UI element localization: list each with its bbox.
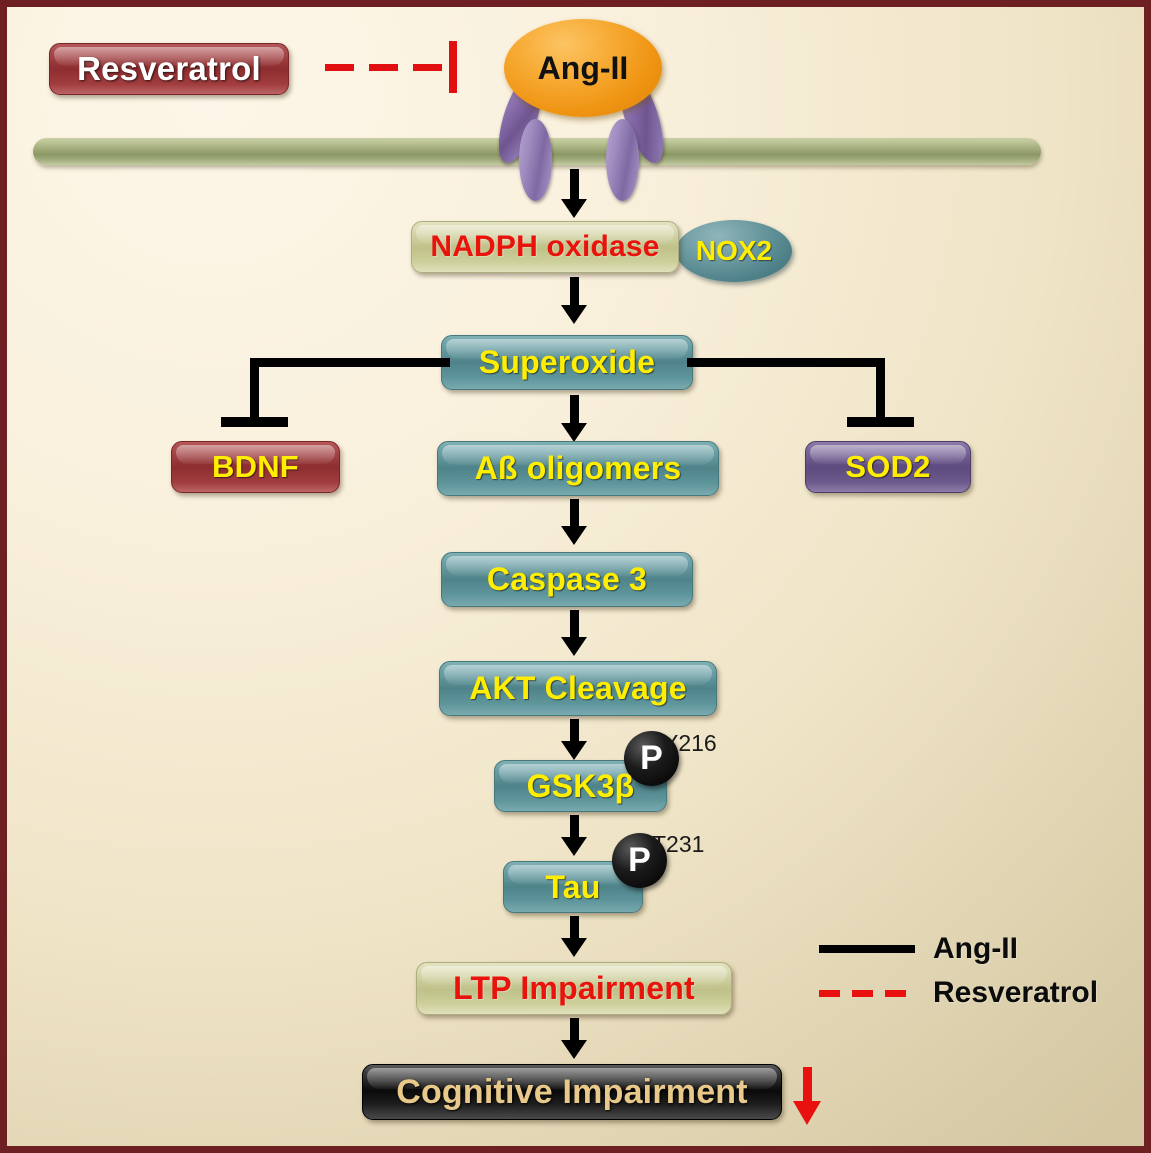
- arrow-receptor-to-nadph-head-icon: [561, 199, 587, 218]
- phospho-symbol: P: [628, 841, 651, 880]
- arrow-superoxide-to-abeta-head-icon: [561, 423, 587, 442]
- node-label: LTP Impairment: [453, 970, 695, 1007]
- node-resveratrol[interactable]: Resveratrol: [49, 43, 289, 95]
- legend-item-label: Resveratrol: [933, 976, 1098, 1010]
- node-nox2[interactable]: NOX2: [676, 220, 792, 282]
- arrow-ltp-to-cognitive-head-icon: [561, 1040, 587, 1059]
- node-akt-cleavage[interactable]: AKT Cleavage: [439, 661, 717, 716]
- legend-item-label: Ang-II: [933, 932, 1018, 966]
- node-label: Aß oligomers: [475, 450, 682, 487]
- phospho-site-tau-label: T231: [652, 831, 704, 858]
- node-label: SOD2: [845, 449, 930, 485]
- node-label: NOX2: [696, 235, 772, 267]
- branch-superoxide-to-sod2-vertical: [876, 358, 885, 424]
- branch-superoxide-to-bdnf-vertical: [250, 358, 259, 424]
- node-label: NADPH oxidase: [430, 230, 659, 264]
- node-caspase-3[interactable]: Caspase 3: [441, 552, 693, 607]
- arrow-caspase3-to-akt-head-icon: [561, 637, 587, 656]
- decrease-arrow-stem-icon: [803, 1067, 812, 1105]
- ligand-label: Ang-II: [538, 50, 629, 87]
- node-label: GSK3β: [527, 768, 635, 805]
- node-cognitive-impairment[interactable]: Cognitive Impairment: [362, 1064, 782, 1120]
- node-sod2[interactable]: SOD2: [805, 441, 971, 493]
- decrease-arrow-head-icon: [793, 1101, 821, 1125]
- phospho-site-gsk3b-label: Y216: [663, 730, 717, 757]
- node-label: Superoxide: [479, 344, 655, 381]
- legend-item-ang-ii: Ang-II: [819, 927, 1098, 971]
- node-superoxide[interactable]: Superoxide: [441, 335, 693, 390]
- legend-item-resveratrol: Resveratrol: [819, 971, 1098, 1015]
- node-label: BDNF: [212, 449, 299, 485]
- node-label: Tau: [545, 869, 600, 906]
- legend-dashed-line-icon: [819, 990, 915, 997]
- node-label: Resveratrol: [77, 50, 261, 88]
- ligand-ang-ii[interactable]: Ang-II: [504, 19, 662, 117]
- node-label: Caspase 3: [487, 561, 647, 598]
- arrow-tau-to-ltp-head-icon: [561, 938, 587, 957]
- arrow-nadph-to-superoxide-head-icon: [561, 305, 587, 324]
- inhibition-tbar-bdnf-icon: [221, 417, 288, 427]
- pathway-figure: Resveratrol Ang-II NOX2 NADPH oxidase Su…: [0, 0, 1151, 1153]
- phospho-symbol: P: [640, 739, 663, 778]
- node-label: Cognitive Impairment: [396, 1073, 748, 1112]
- arrow-abeta-to-caspase3-head-icon: [561, 526, 587, 545]
- node-abeta-oligomers[interactable]: Aß oligomers: [437, 441, 719, 496]
- arrow-akt-to-gsk3b-head-icon: [561, 741, 587, 760]
- node-ltp-impairment[interactable]: LTP Impairment: [416, 962, 732, 1015]
- inhibition-tbar-sod2-icon: [847, 417, 914, 427]
- receptor-right-lower-lobe-icon: [606, 119, 639, 201]
- legend-solid-line-icon: [819, 945, 915, 953]
- node-nadph-oxidase[interactable]: NADPH oxidase: [411, 221, 679, 273]
- legend: Ang-II Resveratrol: [819, 927, 1098, 1015]
- branch-superoxide-to-sod2-horizontal: [687, 358, 885, 367]
- branch-superoxide-to-bdnf-horizontal: [250, 358, 450, 367]
- resveratrol-inhibition-tbar-icon: [449, 41, 457, 93]
- resveratrol-inhibition-dashed-line: [325, 64, 449, 71]
- receptor-left-lower-lobe-icon: [519, 119, 552, 201]
- node-label: AKT Cleavage: [469, 670, 687, 707]
- arrow-gsk3b-to-tau-head-icon: [561, 837, 587, 856]
- node-bdnf[interactable]: BDNF: [171, 441, 340, 493]
